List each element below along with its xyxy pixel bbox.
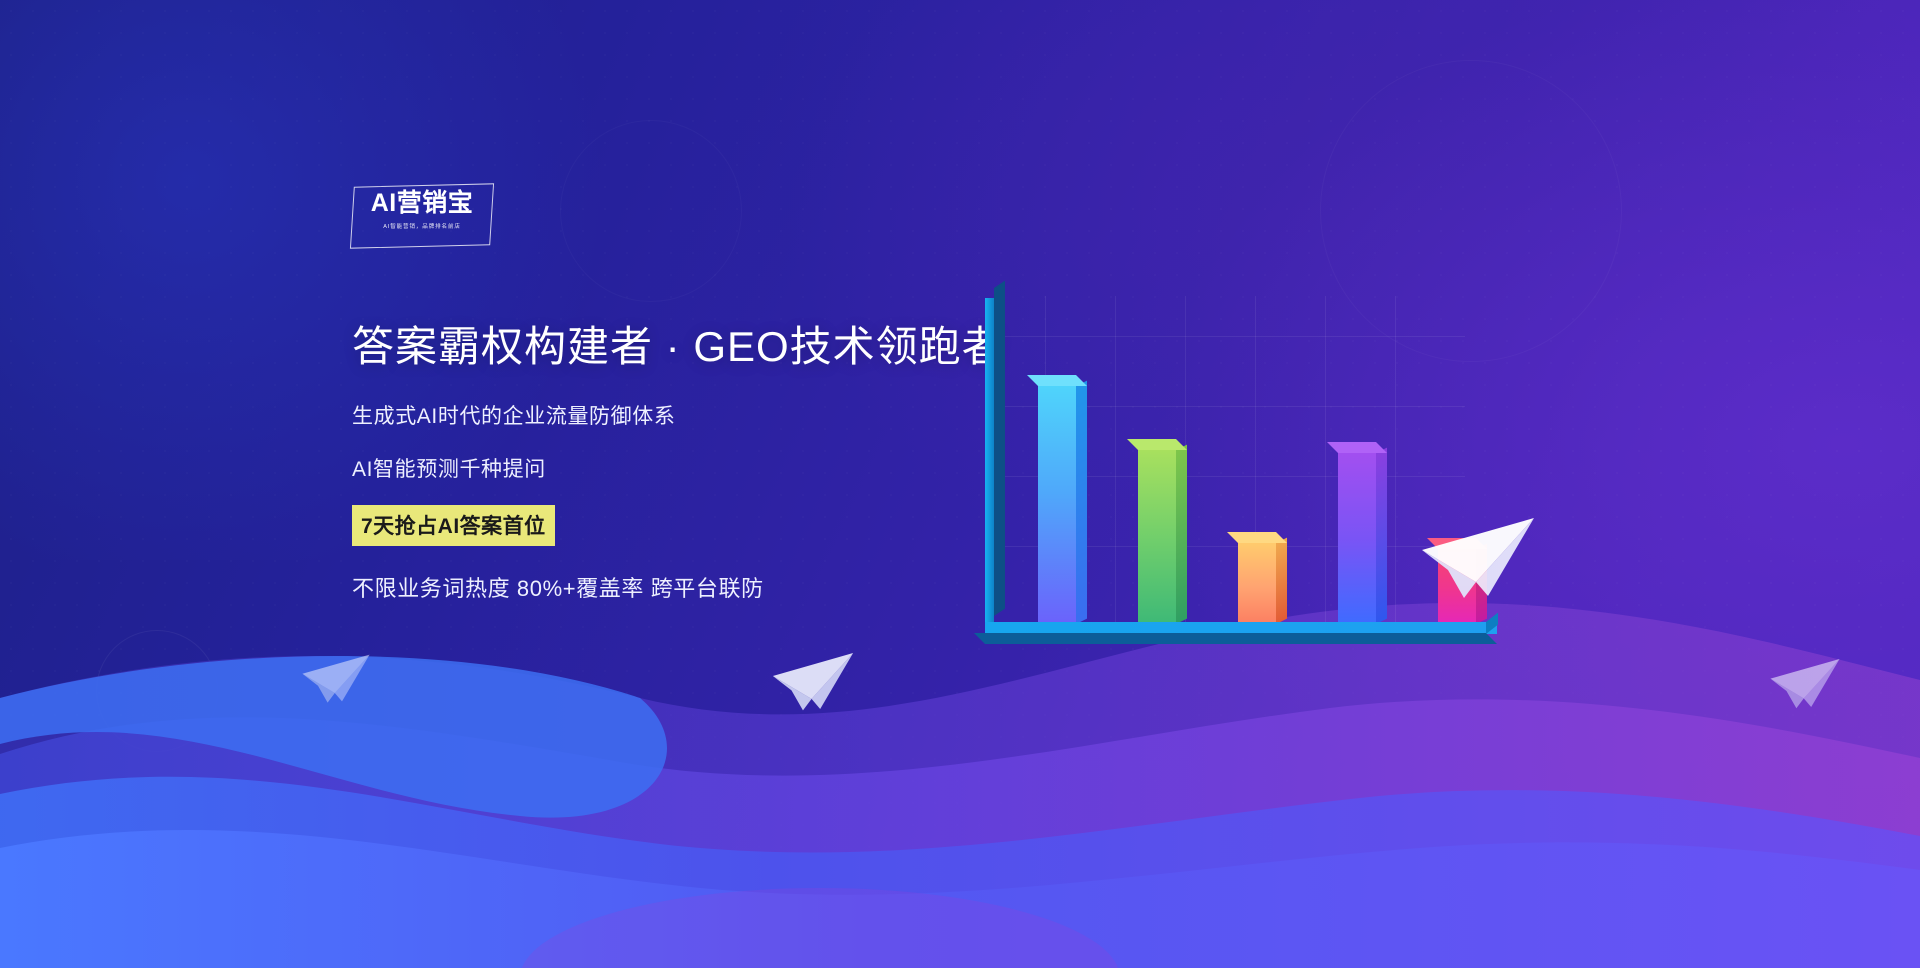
bar-chart <box>985 296 1465 666</box>
paper-plane-icon <box>1418 512 1538 602</box>
subtitle-line-1: 生成式AI时代的企业流量防御体系 <box>352 400 1072 430</box>
feature-line: 不限业务词热度 80%+覆盖率 跨平台联防 <box>352 571 1072 603</box>
grid-line <box>1115 296 1116 624</box>
paper-plane-icon <box>770 648 856 714</box>
grid-line <box>985 336 1465 337</box>
chart-base-front <box>974 633 1497 644</box>
bar-1 <box>1038 386 1076 624</box>
grid-line <box>1395 296 1396 624</box>
paper-plane-icon <box>300 650 372 706</box>
page-title: 答案霸权构建者 · GEO技术领跑者 <box>352 322 1072 372</box>
logo-text: AI营销宝 <box>352 191 492 216</box>
banner-root: AI营销宝 AI智能营销，品牌排名前店 答案霸权构建者 · GEO技术领跑者 生… <box>0 0 1920 968</box>
wave-decoration <box>0 548 1920 968</box>
highlight-badge: 7天抢占AI答案首位 <box>352 505 555 546</box>
subtitle-line-2: AI智能预测千种提问 <box>352 453 1072 483</box>
decorative-circle <box>560 120 742 302</box>
highlight-row: 7天抢占AI答案首位 <box>352 505 1072 546</box>
bar-4 <box>1338 453 1376 624</box>
bar-2 <box>1138 450 1176 624</box>
chart-y-axis <box>985 298 994 624</box>
paper-plane-icon <box>1768 654 1842 712</box>
logo[interactable]: AI营销宝 AI智能营销，品牌排名前店 <box>352 185 492 247</box>
bar-3 <box>1238 543 1276 624</box>
chart-y-axis-side <box>994 281 1005 616</box>
copy-block: 答案霸权构建者 · GEO技术领跑者 生成式AI时代的企业流量防御体系 AI智能… <box>352 322 1072 603</box>
logo-tagline: AI智能营销，品牌排名前店 <box>351 222 494 230</box>
grid-line <box>1325 296 1326 624</box>
